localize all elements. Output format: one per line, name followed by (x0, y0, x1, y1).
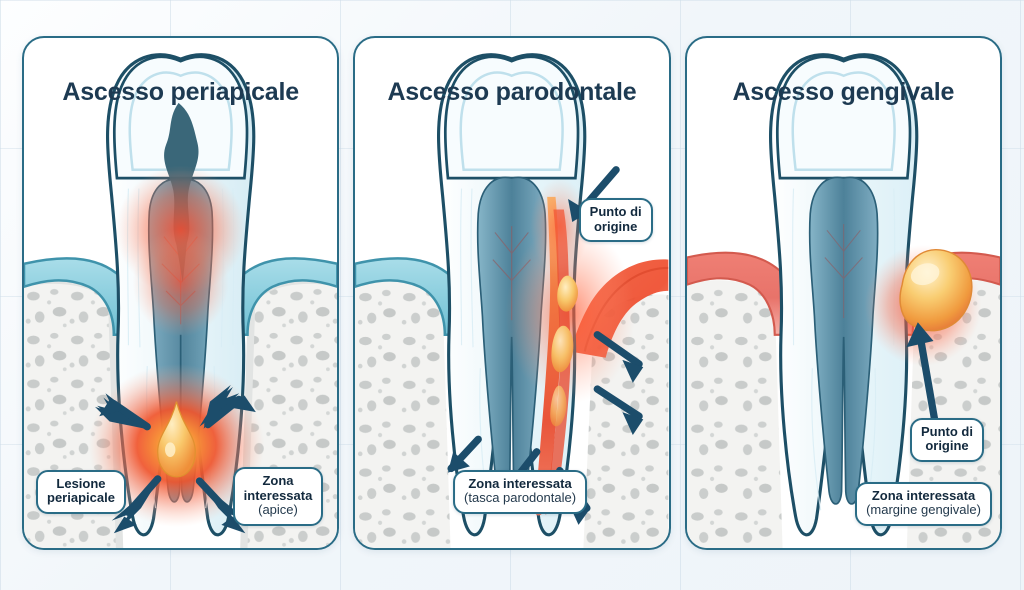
callout-line-2: origine (921, 439, 973, 454)
callout-zona-interessata-margine[interactable]: Zona interessata (margine gengivale) (855, 482, 992, 526)
callout-line-1: Lesione (47, 477, 115, 492)
callout-punto-di-origine-parodontale[interactable]: Punto di origine (579, 198, 653, 242)
panel-ascesso-gengivale[interactable]: Ascesso gengivale (685, 36, 1002, 550)
callout-line-2: (tasca parodontale) (464, 491, 576, 506)
callout-punto-di-origine-gengivale[interactable]: Punto di origine (910, 418, 984, 462)
callout-lesione-periapicale[interactable]: Lesione periapicale (36, 470, 126, 514)
callout-line-2: interessata (244, 489, 313, 504)
callout-line-1: Punto di (921, 425, 973, 440)
callout-line-1: Zona interessata (464, 477, 576, 492)
callout-line-2: periapicale (47, 491, 115, 506)
callout-line-1: Zona interessata (866, 489, 981, 504)
callout-zona-interessata-tasca[interactable]: Zona interessata (tasca parodontale) (453, 470, 587, 514)
tooth-illustration-gengivale (687, 38, 1000, 548)
panel-ascesso-parodontale[interactable]: Ascesso parodontale (353, 36, 670, 550)
panel-ascesso-periapicale[interactable]: Ascesso periapicale (22, 36, 339, 550)
callout-line-3: (apice) (244, 503, 313, 518)
callout-line-2: origine (590, 220, 642, 235)
callout-line-2: (margine gengivale) (866, 503, 981, 518)
callout-zona-interessata-apice[interactable]: Zona interessata (apice) (233, 467, 324, 526)
callout-line-1: Zona (244, 474, 313, 489)
callout-line-1: Punto di (590, 205, 642, 220)
panel-container: Ascesso periapicale (0, 0, 1024, 590)
